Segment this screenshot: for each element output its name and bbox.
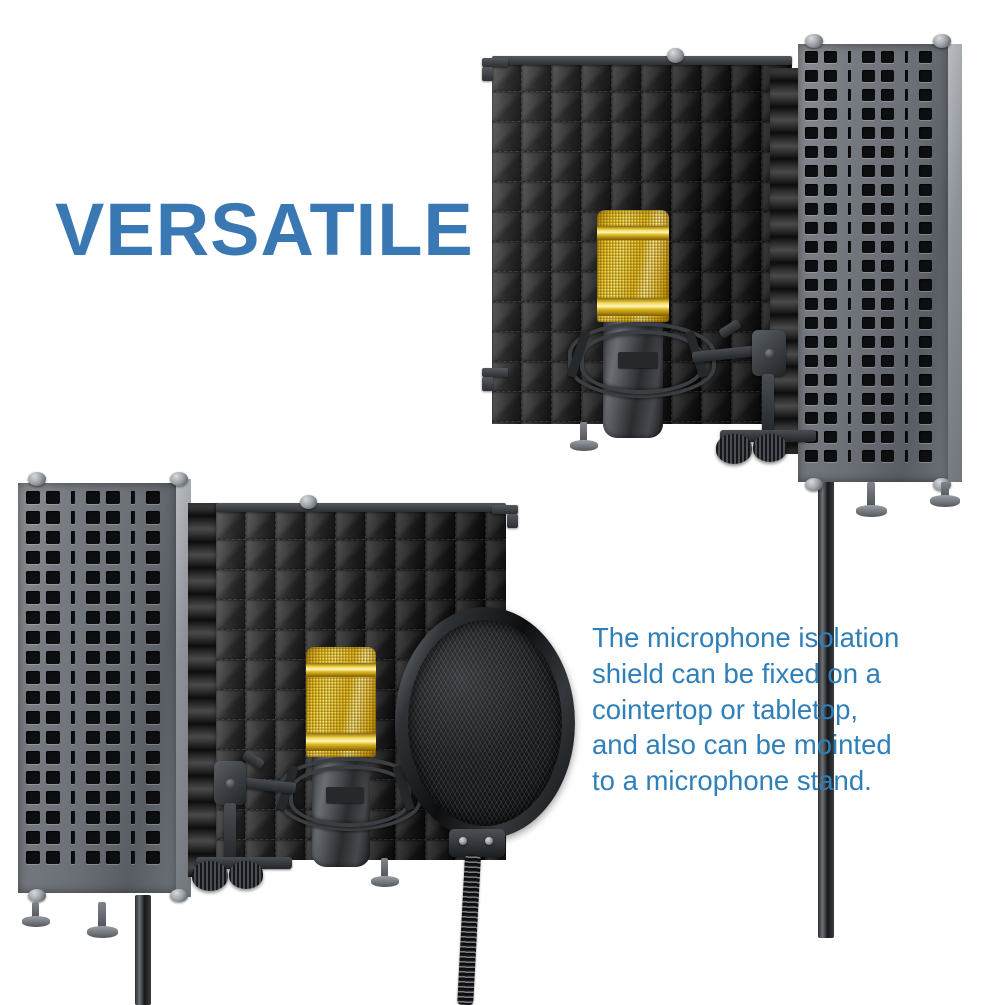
- panel-thumbscrew-top-2: [28, 472, 46, 486]
- shock-mount-clamp: [618, 352, 658, 368]
- mounting-thumbwheel-b-2: [229, 861, 263, 889]
- pop-filter-clamp-screw-right: [485, 837, 493, 845]
- microphone-band-bottom-2: [306, 733, 376, 751]
- description-line-1: The microphone isolation: [592, 620, 962, 656]
- product-tabletop-shield-with-pop-filter: [10, 465, 570, 1000]
- panel-thumbscrew-bottom-right-2: [170, 889, 188, 902]
- bracket-clip-top-right-2: [492, 505, 518, 514]
- support-foot-cap-left: [570, 440, 598, 451]
- mounting-arm-hinge-2: [214, 761, 246, 805]
- mounting-arm-vertical-2: [224, 803, 236, 863]
- description-text: The microphone isolation shield can be f…: [592, 620, 962, 799]
- microphone-stand-pole-2: [135, 895, 151, 1005]
- perforated-metal-panel: [798, 44, 950, 482]
- foam-top-rail: [492, 56, 792, 65]
- bracket-clip-top-right-tab-2: [507, 514, 518, 528]
- hinge-pin-icon-2: [226, 779, 235, 788]
- panel-thumbscrew-bottom-2: [28, 889, 46, 902]
- description-line-3: cointertop or tabletop,: [592, 692, 962, 728]
- pop-filter-clamp-screw-left: [459, 837, 467, 845]
- microphone-band-top: [597, 226, 669, 240]
- support-foot-cap-far-right: [930, 495, 960, 507]
- support-foot-cap-right: [856, 505, 887, 517]
- panel-thumbscrew-top-right: [933, 34, 951, 48]
- hinge-thumbscrew-top-2: [300, 495, 317, 509]
- pop-filter-mesh: [408, 620, 562, 826]
- mounting-thumbwheel-a: [716, 434, 752, 464]
- support-foot-cap-foam-2: [371, 876, 399, 887]
- mounting-arm-vertical: [762, 374, 774, 436]
- mounting-thumbwheel-a-2: [192, 861, 228, 891]
- bracket-clip-top-left: [482, 58, 508, 67]
- hinge-pin-icon: [765, 349, 774, 358]
- marketing-image-canvas: VERSATILE: [0, 0, 1000, 1000]
- description-line-2: shield can be fixed on a: [592, 656, 962, 692]
- panel-thumbscrew-bottom: [805, 478, 823, 491]
- mounting-arm-hinge: [752, 330, 786, 376]
- product-stand-mounted-shield: [470, 30, 970, 530]
- support-foot-cap-mid-2: [87, 926, 118, 938]
- hinge-thumbscrew-top: [667, 48, 684, 63]
- pop-filter-gooseneck: [457, 855, 481, 1005]
- support-foot-cap-left-2: [22, 916, 50, 927]
- pop-filter-clamp: [449, 829, 505, 857]
- microphone-band-bottom: [597, 298, 669, 316]
- perforated-panel-edge: [948, 44, 962, 482]
- microphone-band-top-2: [306, 663, 376, 677]
- description-line-4: and also can be mointed: [592, 727, 962, 763]
- perforated-metal-panel-2: [18, 483, 178, 893]
- mounting-thumbwheel-b: [753, 434, 787, 462]
- panel-thumbscrew-top-right-2: [170, 472, 188, 486]
- bracket-clip-bottom-left-tab: [482, 377, 493, 391]
- page-title: VERSATILE: [55, 193, 474, 267]
- description-line-5: to a microphone stand.: [592, 763, 962, 799]
- foam-top-rail-2: [216, 503, 506, 512]
- bracket-clip-top-left-tab: [482, 67, 493, 81]
- panel-thumbscrew-top: [805, 34, 823, 48]
- bracket-clip-bottom-left: [482, 368, 508, 377]
- shock-mount-clamp-2: [326, 787, 364, 803]
